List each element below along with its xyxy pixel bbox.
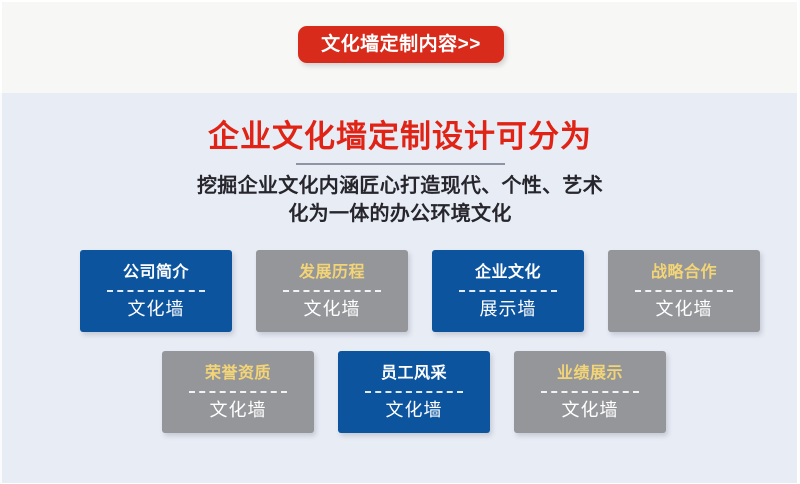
page-subtitle: 挖掘企业文化内涵匠心打造现代、个性、艺术 化为一体的办公环境文化 (0, 172, 800, 229)
card-title: 员工风采 (381, 366, 447, 382)
card-subtitle: 文化墙 (128, 300, 185, 318)
card-development-history[interactable]: 发展历程 文化墙 (256, 250, 408, 332)
card-honors-qualifications[interactable]: 荣誉资质 文化墙 (162, 351, 314, 433)
card-subtitle: 文化墙 (562, 401, 619, 419)
card-dashed-divider (189, 391, 287, 393)
card-strategic-cooperation[interactable]: 战略合作 文化墙 (608, 250, 760, 332)
card-dashed-divider (283, 290, 381, 292)
card-dashed-divider (365, 391, 463, 393)
card-dashed-divider (541, 391, 639, 393)
poster-page: 文化墙定制内容>> 企业文化墙定制设计可分为 挖掘企业文化内涵匠心打造现代、个性… (0, 0, 800, 484)
card-title: 公司简介 (123, 265, 189, 281)
title-divider (296, 163, 505, 165)
page-subtitle-line2: 化为一体的办公环境文化 (0, 200, 800, 228)
card-title: 企业文化 (475, 265, 541, 281)
card-dashed-divider (459, 290, 557, 292)
card-title: 业绩展示 (557, 366, 623, 382)
card-subtitle: 文化墙 (656, 300, 713, 318)
section-banner-label: 文化墙定制内容>> (321, 35, 481, 54)
section-banner[interactable]: 文化墙定制内容>> (298, 26, 504, 63)
page-subtitle-line1: 挖掘企业文化内涵匠心打造现代、个性、艺术 (0, 172, 800, 200)
card-title: 战略合作 (651, 265, 717, 281)
card-row-2: 荣誉资质 文化墙 员工风采 文化墙 业绩展示 文化墙 (162, 351, 666, 433)
card-title: 发展历程 (299, 265, 365, 281)
page-title: 企业文化墙定制设计可分为 (0, 119, 800, 155)
card-corporate-culture[interactable]: 企业文化 展示墙 (432, 250, 584, 332)
card-subtitle: 文化墙 (304, 300, 361, 318)
card-company-profile[interactable]: 公司简介 文化墙 (80, 250, 232, 332)
card-performance-display[interactable]: 业绩展示 文化墙 (514, 351, 666, 433)
card-title: 荣誉资质 (205, 366, 271, 382)
card-subtitle: 展示墙 (480, 300, 537, 318)
card-subtitle: 文化墙 (386, 401, 443, 419)
card-dashed-divider (635, 290, 733, 292)
card-row-1: 公司简介 文化墙 发展历程 文化墙 企业文化 展示墙 战略合作 文化墙 (80, 250, 760, 332)
card-dashed-divider (107, 290, 205, 292)
card-subtitle: 文化墙 (210, 401, 267, 419)
card-employee-style[interactable]: 员工风采 文化墙 (338, 351, 490, 433)
